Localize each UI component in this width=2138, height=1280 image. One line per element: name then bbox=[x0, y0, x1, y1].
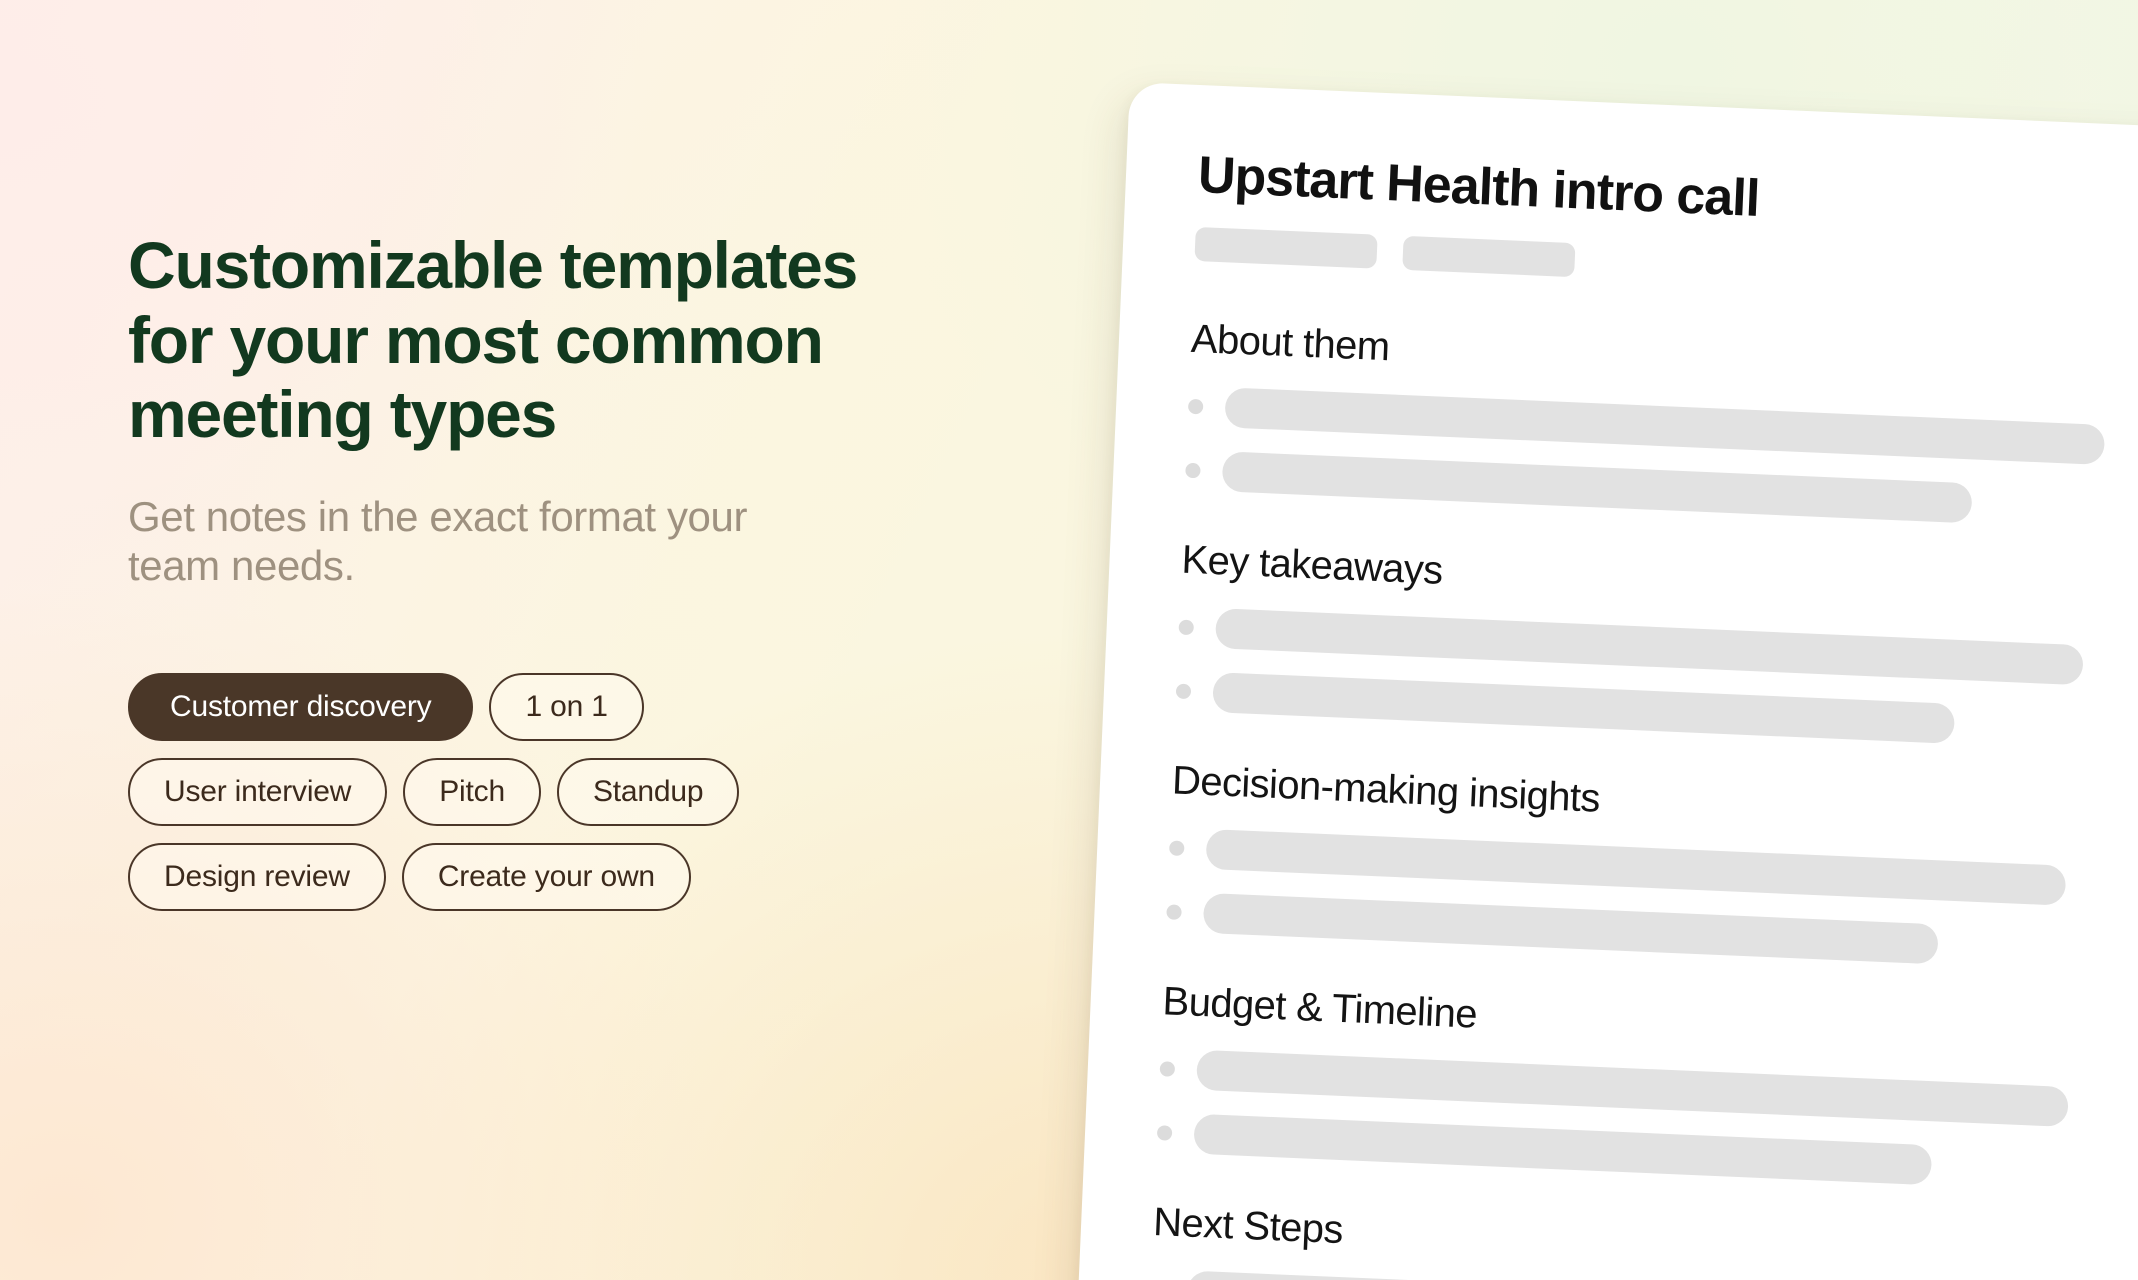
bullet-dot-icon bbox=[1169, 840, 1185, 856]
template-pill-1-on-1[interactable]: 1 on 1 bbox=[489, 673, 643, 741]
note-bullet-row bbox=[1185, 450, 2138, 538]
bullet-dot-icon bbox=[1166, 904, 1182, 920]
bullet-dot-icon bbox=[1157, 1125, 1173, 1141]
note-section: Decision-making insights bbox=[1166, 758, 2138, 979]
note-skeleton-bar bbox=[1215, 608, 2084, 685]
note-section-heading: Next Steps bbox=[1152, 1200, 2138, 1280]
note-section: About them bbox=[1185, 317, 2138, 538]
note-skeleton-bar bbox=[1222, 451, 1973, 523]
template-pill-standup[interactable]: Standup bbox=[557, 758, 739, 826]
note-skeleton-bar bbox=[1224, 387, 2105, 465]
bullet-dot-icon bbox=[1188, 398, 1204, 414]
template-pill-design-review[interactable]: Design review bbox=[128, 843, 386, 911]
note-skeleton-bar bbox=[1196, 1050, 2069, 1127]
meeting-note-meta-chip bbox=[1194, 227, 1377, 269]
template-pill-customer-discovery[interactable]: Customer discovery bbox=[128, 673, 473, 741]
meeting-note-sections: About themKey takeawaysDecision-making i… bbox=[1147, 317, 2138, 1280]
page-title: Customizable templates for your most com… bbox=[128, 228, 1068, 452]
page-subtitle: Get notes in the exact format your team … bbox=[128, 492, 1068, 591]
template-pill-create-your-own[interactable]: Create your own bbox=[402, 843, 691, 911]
meeting-note-card[interactable]: Upstart Health intro call About themKey … bbox=[1068, 82, 2138, 1280]
note-skeleton-bar bbox=[1205, 829, 2066, 906]
note-skeleton-bar bbox=[1193, 1114, 1932, 1186]
note-skeleton-bar bbox=[1203, 893, 1939, 964]
template-pill-user-interview[interactable]: User interview bbox=[128, 758, 387, 826]
note-bullet-row bbox=[1166, 891, 2138, 979]
hero-column: Customizable templates for your most com… bbox=[128, 228, 1068, 911]
note-section: Budget & Timeline bbox=[1156, 979, 2138, 1200]
note-skeleton-bar bbox=[1212, 672, 1955, 744]
note-bullet-row bbox=[1156, 1112, 2138, 1200]
note-section: Key takeaways bbox=[1175, 538, 2138, 759]
template-pill-pitch[interactable]: Pitch bbox=[403, 758, 541, 826]
bullet-dot-icon bbox=[1160, 1061, 1176, 1077]
bullet-dot-icon bbox=[1185, 462, 1201, 478]
meeting-note-meta-chip bbox=[1402, 236, 1575, 277]
note-bullet-row bbox=[1175, 671, 2138, 759]
template-pill-group: Customer discovery1 on 1User interviewPi… bbox=[128, 673, 868, 911]
note-section: Next Steps bbox=[1147, 1200, 2138, 1280]
bullet-dot-icon bbox=[1178, 619, 1194, 635]
bullet-dot-icon bbox=[1176, 683, 1192, 699]
